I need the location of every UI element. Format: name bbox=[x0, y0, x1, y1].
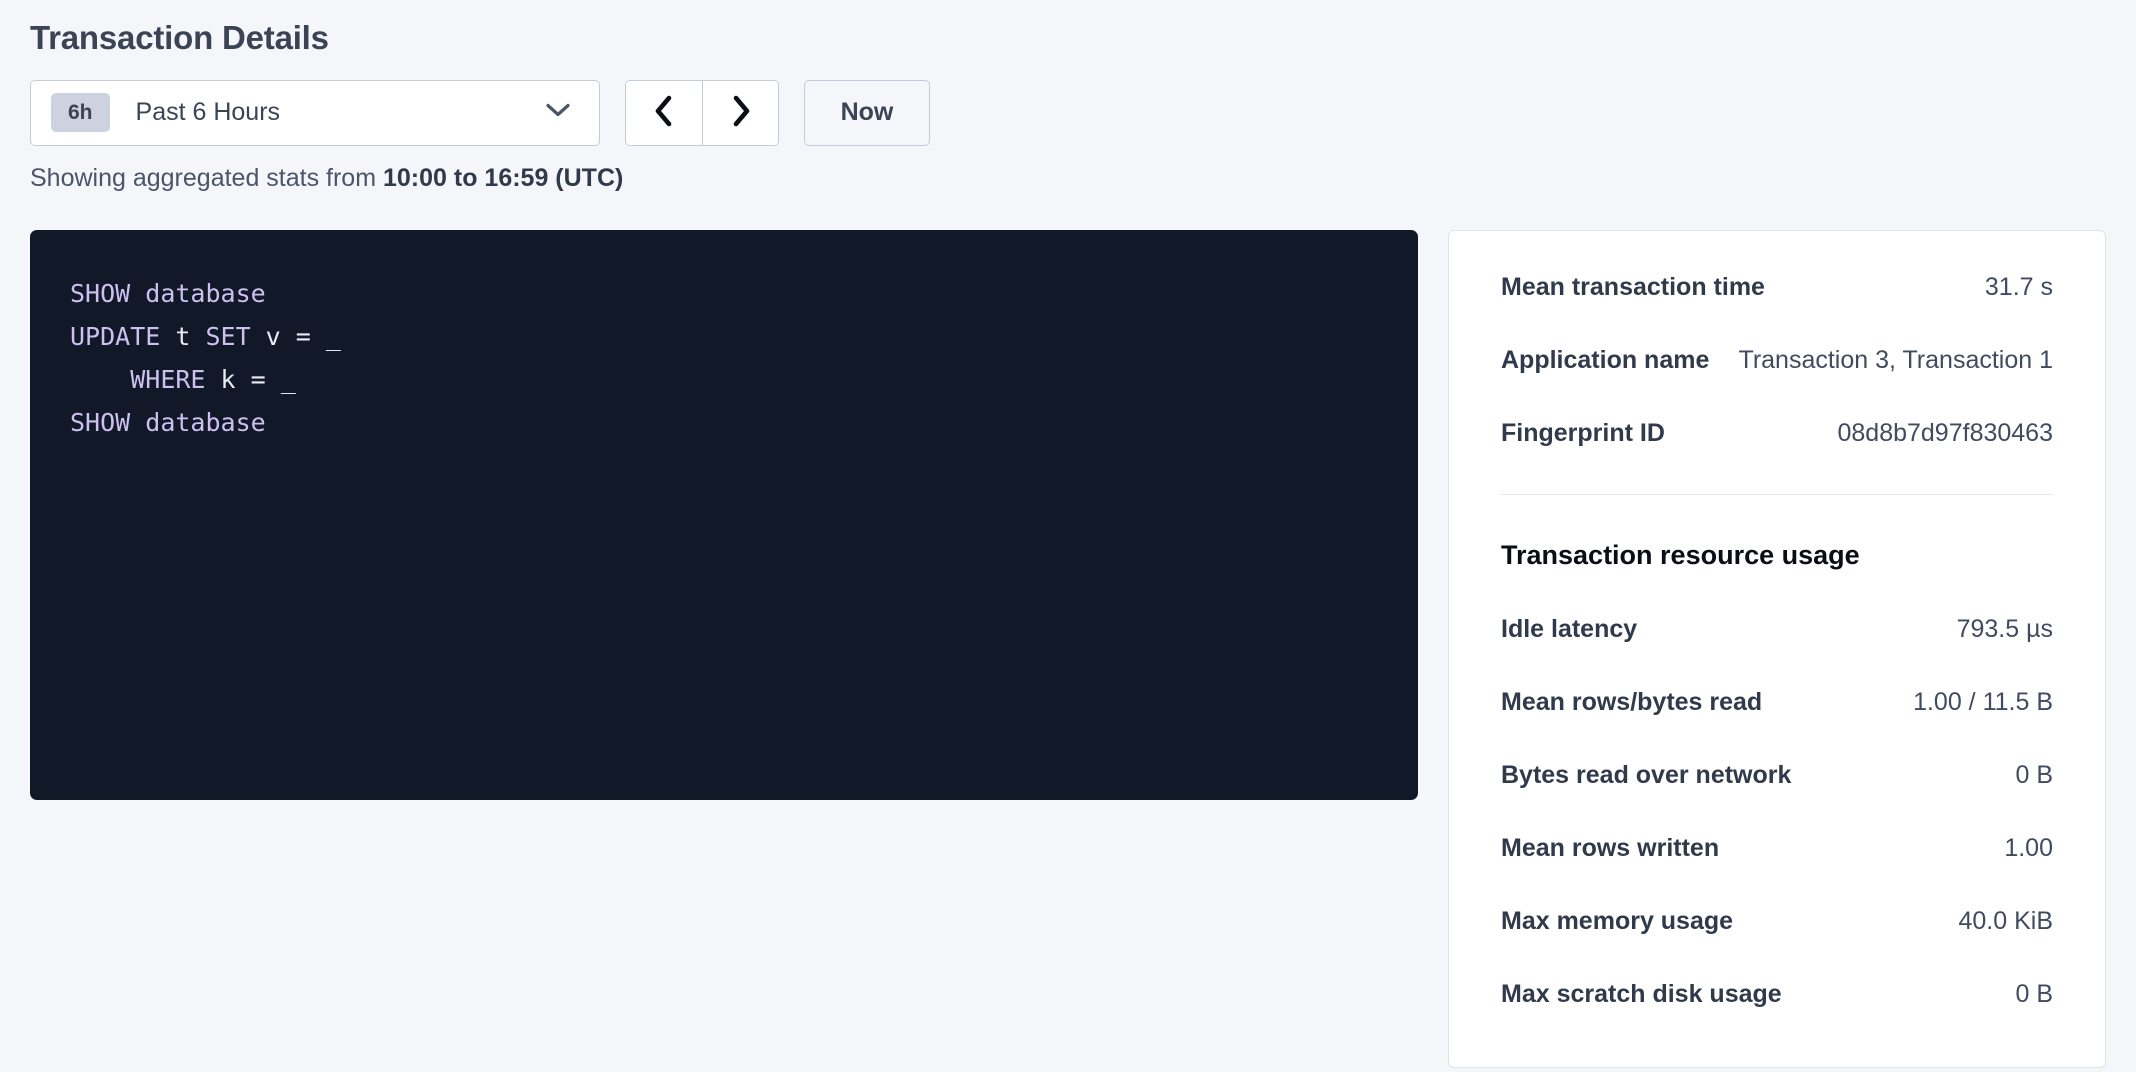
chevron-down-icon bbox=[545, 102, 571, 123]
metric-row: Mean rows written1.00 bbox=[1501, 834, 2053, 863]
sql-keyword: SHOW bbox=[70, 408, 130, 437]
metric-value: 40.0 KiB bbox=[1958, 907, 2053, 936]
metric-row: Max memory usage40.0 KiB bbox=[1501, 907, 2053, 936]
metric-label: Max scratch disk usage bbox=[1501, 980, 1782, 1009]
chevron-right-icon bbox=[728, 94, 754, 131]
metric-label: Max memory usage bbox=[1501, 907, 1733, 936]
metric-row: Max scratch disk usage0 B bbox=[1501, 980, 2053, 1009]
metric-row: Mean transaction time31.7 s bbox=[1501, 273, 2053, 302]
sql-keyword: database bbox=[145, 279, 265, 308]
metric-label: Idle latency bbox=[1501, 615, 1637, 644]
sql-keyword: UPDATE bbox=[70, 322, 160, 351]
metric-label: Mean rows/bytes read bbox=[1501, 688, 1762, 717]
metric-value: 793.5 µs bbox=[1957, 615, 2053, 644]
metric-label: Mean transaction time bbox=[1501, 273, 1765, 302]
metric-label: Mean rows written bbox=[1501, 834, 1719, 863]
metric-value: 0 B bbox=[2015, 761, 2053, 790]
sql-identifier bbox=[70, 365, 130, 394]
card-divider bbox=[1501, 494, 2053, 495]
time-range-badge: 6h bbox=[51, 93, 110, 132]
metric-label: Bytes read over network bbox=[1501, 761, 1791, 790]
metric-row: Idle latency793.5 µs bbox=[1501, 615, 2053, 644]
metric-row: Mean rows/bytes read1.00 / 11.5 B bbox=[1501, 688, 2053, 717]
summary-metrics: Mean transaction time31.7 sApplication n… bbox=[1501, 273, 2053, 448]
chevron-left-icon bbox=[651, 94, 677, 131]
resource-metrics: Idle latency793.5 µsMean rows/bytes read… bbox=[1501, 615, 2053, 1009]
metric-value: Transaction 3, Transaction 1 bbox=[1738, 346, 2053, 375]
metric-value: 08d8b7d97f830463 bbox=[1837, 419, 2053, 448]
transaction-details-page: Transaction Details 6h Past 6 Hours bbox=[0, 0, 2136, 1072]
metric-row: Application nameTransaction 3, Transacti… bbox=[1501, 346, 2053, 375]
metric-row: Bytes read over network0 B bbox=[1501, 761, 2053, 790]
metric-value: 0 B bbox=[2015, 980, 2053, 1009]
sql-keyword: database bbox=[145, 408, 265, 437]
sql-identifier: k = _ bbox=[205, 365, 295, 394]
resource-usage-heading: Transaction resource usage bbox=[1501, 539, 2053, 571]
aggregated-stats-range: 10:00 to 16:59 (UTC) bbox=[383, 164, 623, 192]
toolbar: 6h Past 6 Hours bbox=[30, 80, 2106, 146]
previous-period-button[interactable] bbox=[626, 81, 702, 145]
aggregated-stats-caption: Showing aggregated stats from 10:00 to 1… bbox=[30, 163, 2106, 193]
sql-identifier: t bbox=[160, 322, 205, 351]
sql-keyword: SET bbox=[205, 322, 250, 351]
sql-code-text: SHOW database UPDATE t SET v = _ WHERE k… bbox=[70, 272, 1378, 444]
sql-keyword: WHERE bbox=[130, 365, 205, 394]
sql-keyword: SHOW bbox=[70, 279, 130, 308]
content-area: SHOW database UPDATE t SET v = _ WHERE k… bbox=[30, 230, 2106, 1068]
transaction-detail-card: Mean transaction time31.7 sApplication n… bbox=[1448, 230, 2106, 1068]
sql-code-block[interactable]: SHOW database UPDATE t SET v = _ WHERE k… bbox=[30, 230, 1418, 800]
now-button[interactable]: Now bbox=[804, 80, 930, 146]
sql-identifier bbox=[130, 408, 145, 437]
metric-value: 31.7 s bbox=[1985, 273, 2053, 302]
metric-value: 1.00 bbox=[2004, 834, 2053, 863]
metric-label: Fingerprint ID bbox=[1501, 419, 1665, 448]
sql-identifier: v = _ bbox=[251, 322, 341, 351]
sql-identifier bbox=[130, 279, 145, 308]
metric-row: Fingerprint ID08d8b7d97f830463 bbox=[1501, 419, 2053, 448]
metric-label: Application name bbox=[1501, 346, 1709, 375]
next-period-button[interactable] bbox=[702, 81, 778, 145]
time-range-label: Past 6 Hours bbox=[136, 100, 281, 125]
metric-value: 1.00 / 11.5 B bbox=[1913, 688, 2053, 717]
aggregated-stats-prefix: Showing aggregated stats from bbox=[30, 164, 383, 192]
time-nav-group bbox=[625, 80, 779, 146]
time-range-select[interactable]: 6h Past 6 Hours bbox=[30, 80, 600, 146]
page-title: Transaction Details bbox=[30, 0, 2106, 58]
